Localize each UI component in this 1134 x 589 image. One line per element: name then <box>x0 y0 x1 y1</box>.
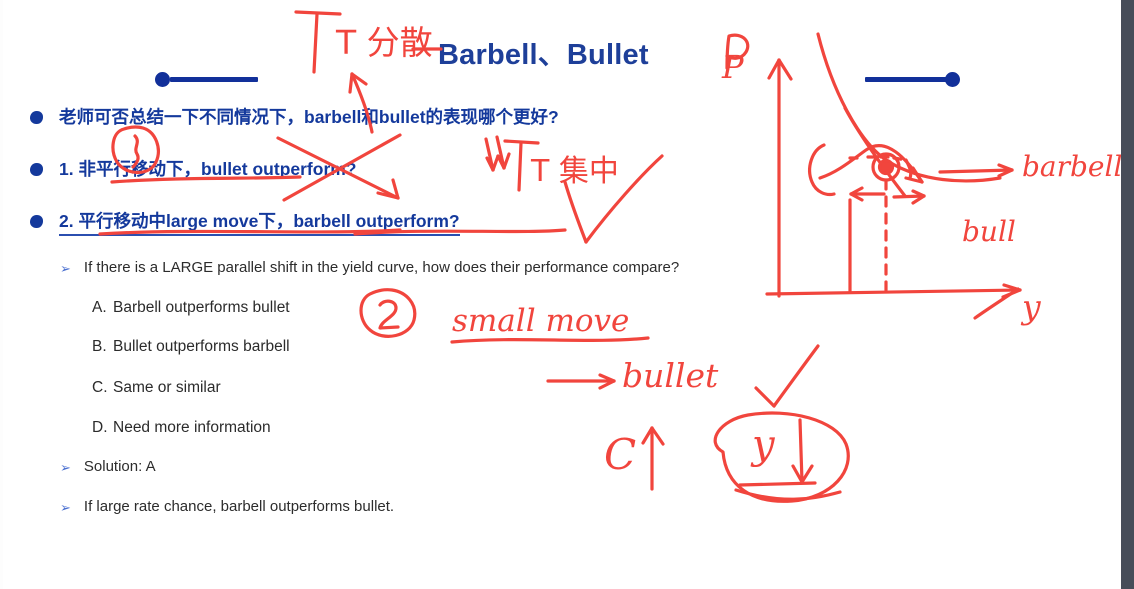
option-label: D. <box>92 419 108 437</box>
title-decoration-line-right <box>865 77 953 82</box>
arrow-bullet-icon: ➢ <box>60 458 71 478</box>
question-row: ➢ If there is a LARGE parallel shift in … <box>60 259 679 279</box>
annotation-small-move: small move <box>452 303 629 339</box>
title-decoration-dot-right <box>945 72 960 87</box>
annotation-y-letter: y <box>752 422 775 468</box>
bullet-label: 老师可否总结一下不同情况下，barbell和bullet的表现哪个更好? <box>59 105 559 129</box>
annotation-concentrated-note: T 集中 <box>531 146 619 190</box>
bullet-item: 1. 非平行移动下，bullet outperform? <box>30 157 357 181</box>
answer-option-a[interactable]: A. Barbell outperforms bullet <box>92 299 290 317</box>
bullet-item: 老师可否总结一下不同情况下，barbell和bullet的表现哪个更好? <box>30 105 559 129</box>
presentation-slide: Barbell、Bullet 老师可否总结一下不同情况下，barbell和bul… <box>0 0 1134 589</box>
note-text: If large rate chance, barbell outperform… <box>84 498 394 515</box>
answer-option-b[interactable]: B. Bullet outperforms barbell <box>92 338 290 356</box>
arrow-bullet-icon: ➢ <box>60 259 71 279</box>
slide-right-edge-band <box>1121 0 1134 589</box>
option-text: Need more information <box>113 419 271 437</box>
answer-option-d[interactable]: D. Need more information <box>92 419 271 437</box>
bullet-marker-icon <box>30 215 43 228</box>
slide-left-edge <box>0 0 3 589</box>
question-text: If there is a LARGE parallel shift in th… <box>84 259 679 276</box>
solution-row: ➢ Solution: A <box>60 458 156 478</box>
arrow-bullet-icon: ➢ <box>60 498 71 518</box>
option-label: B. <box>92 338 108 356</box>
option-text: Same or similar <box>113 379 221 397</box>
annotation-c-letter: C <box>604 430 636 479</box>
option-label: C. <box>92 379 108 397</box>
note-row: ➢ If large rate chance, barbell outperfo… <box>60 498 394 518</box>
bullet-label: 2. 平行移动中large move下，barbell outperform? <box>59 209 460 236</box>
option-text: Bullet outperforms barbell <box>113 338 290 356</box>
solution-text: Solution: A <box>84 458 156 475</box>
option-label: A. <box>92 299 108 317</box>
option-text: Barbell outperforms bullet <box>113 299 290 317</box>
page-title: Barbell、Bullet <box>438 31 649 73</box>
answer-option-c[interactable]: C. Same or similar <box>92 379 221 397</box>
annotation-y-axis-label: y <box>1022 287 1041 326</box>
annotation-bullet-word: bullet <box>622 356 718 395</box>
bullet-marker-icon <box>30 163 43 176</box>
bullet-marker-icon <box>30 111 43 124</box>
bullet-label: 1. 非平行移动下，bullet outperform? <box>59 157 357 181</box>
annotation-curve-label-barbell: barbell <box>1022 150 1122 183</box>
title-decoration-line-left <box>170 77 258 82</box>
bullet-item: 2. 平行移动中large move下，barbell outperform? <box>30 209 460 236</box>
annotation-curve-label-bull: bull <box>962 215 1016 248</box>
title-decoration-dot-left <box>155 72 170 87</box>
